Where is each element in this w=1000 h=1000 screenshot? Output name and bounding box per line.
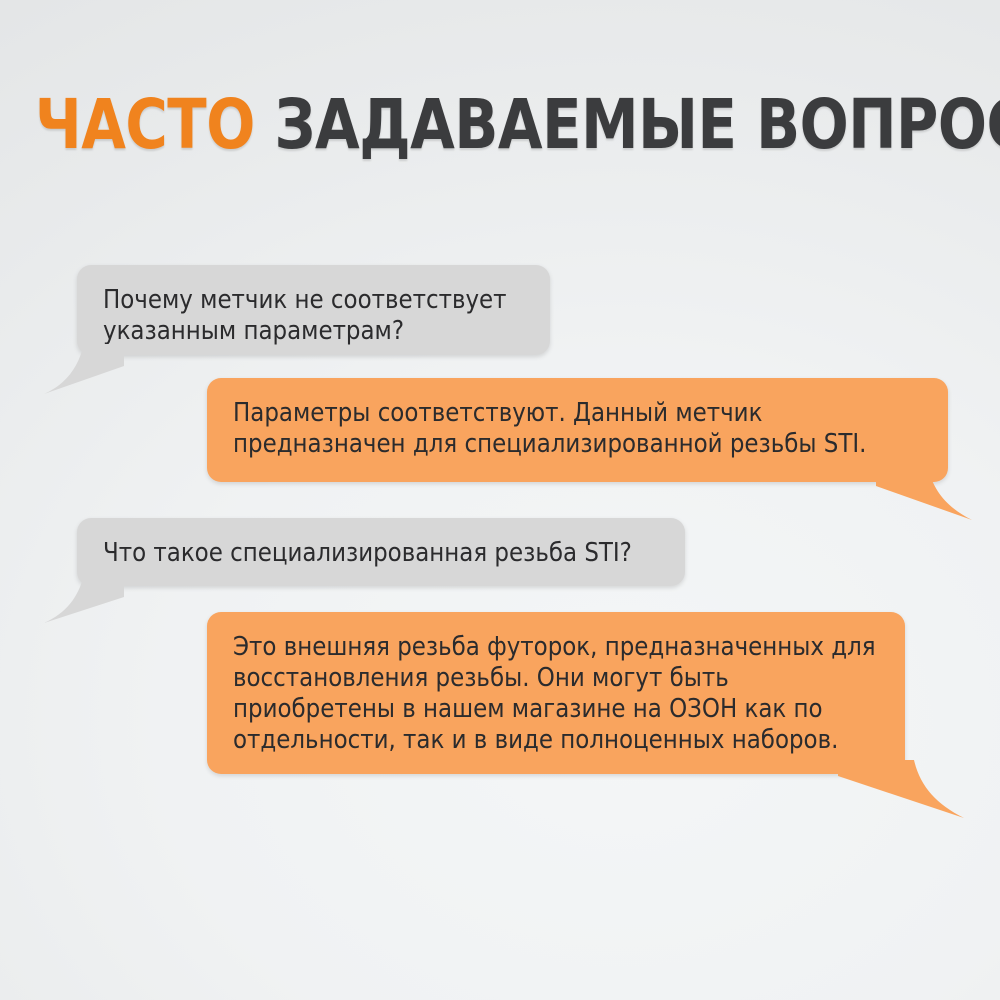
answer-text-1: Параметры соответствуют. Данный метчик п… <box>233 398 922 460</box>
faq-graphic: ЧАСТО ЗАДАВАЕМЫЕ ВОПРОСЫ Почему метчик н… <box>0 0 1000 1000</box>
question-text-1: Почему метчик не соответствует указанным… <box>103 285 524 347</box>
answer-bubble-1: Параметры соответствуют. Данный метчик п… <box>207 378 948 482</box>
title-rest-words: ЗАДАВАЕМЫЕ ВОПРОСЫ <box>274 85 1000 165</box>
question-bubble-1: Почему метчик не соответствует указанным… <box>77 265 550 355</box>
question-text-2: Что такое специализированная резьба STI? <box>103 538 659 569</box>
answer-bubble-2: Это внешняя резьба футорок, предназначен… <box>207 612 905 774</box>
page-title: ЧАСТО ЗАДАВАЕМЫЕ ВОПРОСЫ <box>35 88 965 162</box>
question-bubble-2: Что такое специализированная резьба STI? <box>77 518 685 586</box>
title-accent-word: ЧАСТО <box>35 85 255 165</box>
answer-text-2: Это внешняя резьба футорок, предназначен… <box>233 632 879 756</box>
